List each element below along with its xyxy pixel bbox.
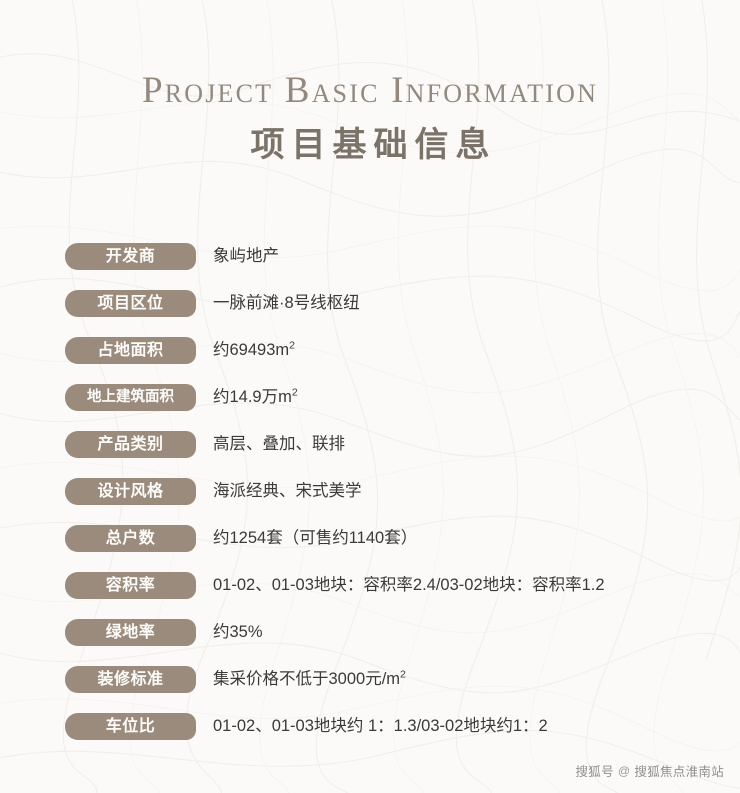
row-value-above-ground-area-superscript: 2	[292, 387, 298, 399]
row-value-above-ground-area: 约14.9万m2	[196, 384, 740, 411]
table-row: 地上建筑面积 约14.9万m2	[0, 384, 740, 411]
row-value-decoration-standard-text: 集采价格不低于3000元/m	[213, 670, 400, 688]
row-value-developer: 象屿地产	[196, 243, 740, 270]
row-value-parking-ratio: 01-02、01-03地块约 1：1.3/03-02地块约1：2	[196, 713, 740, 740]
row-label-developer: 开发商	[65, 243, 196, 270]
project-info-page: Project Basic Information 项目基础信息 开发商 象屿地…	[0, 0, 740, 793]
page-header: Project Basic Information 项目基础信息	[0, 0, 740, 164]
row-label-parking-ratio: 车位比	[65, 713, 196, 740]
row-value-site-area: 约69493m2	[196, 337, 740, 364]
row-label-site-area: 占地面积	[65, 337, 196, 364]
table-row: 项目区位 一脉前滩·8号线枢纽	[0, 290, 740, 317]
table-row: 占地面积 约69493m2	[0, 337, 740, 364]
row-value-site-area-superscript: 2	[289, 340, 295, 352]
at-icon: @	[618, 764, 630, 778]
row-value-design-style: 海派经典、宋式美学	[196, 478, 740, 505]
row-label-decoration-standard: 装修标准	[65, 666, 196, 693]
row-value-site-area-text: 约69493m	[213, 341, 289, 359]
row-value-above-ground-area-text: 约14.9万m	[213, 388, 292, 406]
table-row: 总户数 约1254套（可售约1140套）	[0, 525, 740, 552]
row-value-total-units: 约1254套（可售约1140套）	[196, 525, 740, 552]
project-info-table: 开发商 象屿地产 项目区位 一脉前滩·8号线枢纽 占地面积 约69493m2 地…	[0, 243, 740, 760]
row-label-green-ratio: 绿地率	[65, 619, 196, 646]
table-row: 开发商 象屿地产	[0, 243, 740, 270]
watermark-prefix: 搜狐号	[576, 761, 614, 780]
row-label-total-units: 总户数	[65, 525, 196, 552]
table-row: 绿地率 约35%	[0, 619, 740, 646]
page-title-english: Project Basic Information	[0, 0, 740, 111]
table-row: 车位比 01-02、01-03地块约 1：1.3/03-02地块约1：2	[0, 713, 740, 740]
table-row: 设计风格 海派经典、宋式美学	[0, 478, 740, 505]
table-row: 容积率 01-02、01-03地块：容积率2.4/03-02地块：容积率1.2	[0, 572, 740, 599]
source-watermark: 搜狐号 @ 搜狐焦点淮南站	[576, 761, 725, 780]
row-label-plot-ratio: 容积率	[65, 572, 196, 599]
row-value-product-type: 高层、叠加、联排	[196, 431, 740, 458]
table-row: 装修标准 集采价格不低于3000元/m2	[0, 666, 740, 693]
page-title-chinese: 项目基础信息	[0, 111, 740, 164]
row-label-product-type: 产品类别	[65, 431, 196, 458]
row-label-location: 项目区位	[65, 290, 196, 317]
row-value-green-ratio: 约35%	[196, 619, 740, 646]
row-label-design-style: 设计风格	[65, 478, 196, 505]
row-value-plot-ratio: 01-02、01-03地块：容积率2.4/03-02地块：容积率1.2	[196, 572, 740, 599]
table-row: 产品类别 高层、叠加、联排	[0, 431, 740, 458]
row-label-above-ground-area: 地上建筑面积	[65, 384, 196, 411]
watermark-suffix: 搜狐焦点淮南站	[634, 761, 724, 780]
row-value-decoration-standard: 集采价格不低于3000元/m2	[196, 666, 740, 693]
row-value-decoration-standard-superscript: 2	[400, 669, 406, 681]
row-value-location: 一脉前滩·8号线枢纽	[196, 290, 740, 317]
